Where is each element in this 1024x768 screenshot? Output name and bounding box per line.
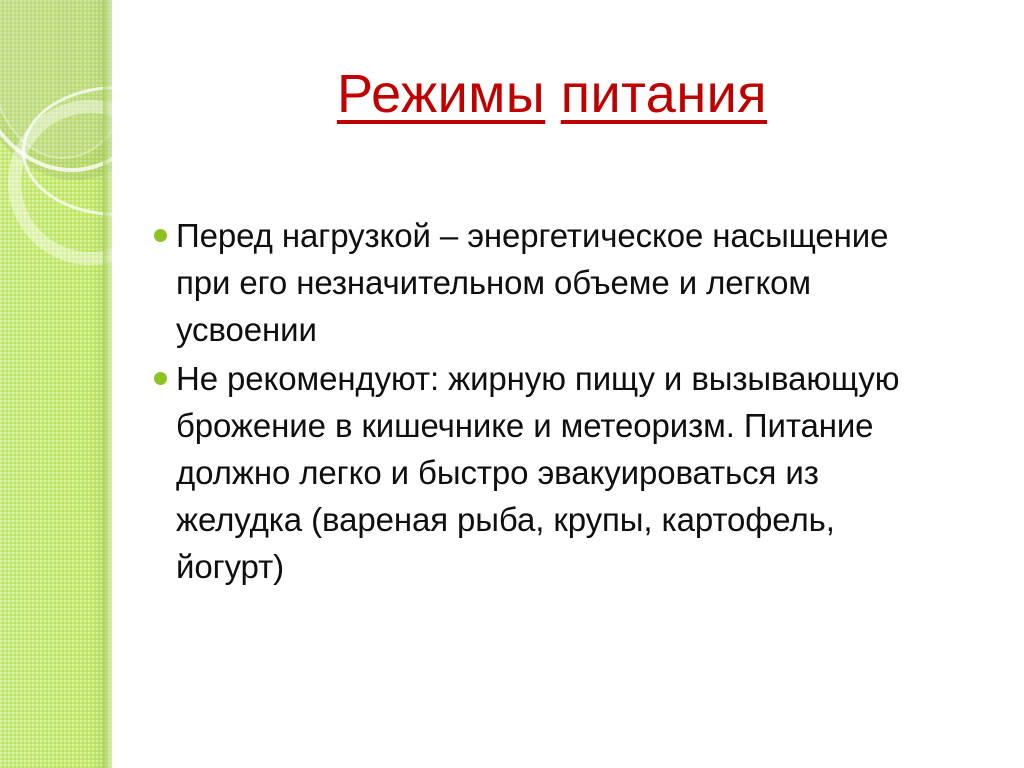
presentation-slide: Режимы питания Перед нагрузкой – энергет… [0, 0, 1024, 768]
title-word-space [545, 64, 561, 124]
list-item: Перед нагрузкой – энергетическое насыщен… [150, 212, 912, 353]
title-word-2: питания [561, 64, 767, 124]
list-item-text: Не рекомендуют: жирную пищу и вызывающую… [176, 355, 912, 590]
slide-body: Перед нагрузкой – энергетическое насыщен… [150, 212, 912, 592]
bullet-list: Перед нагрузкой – энергетическое насыщен… [150, 212, 912, 590]
page-title: Режимы питания [337, 66, 767, 123]
band-edge-stripe [103, 0, 112, 768]
bullet-dot-icon [154, 229, 167, 242]
title-container: Режимы питания [112, 66, 992, 123]
bullet-dot-icon [154, 372, 167, 385]
list-item: Не рекомендуют: жирную пищу и вызывающую… [150, 355, 912, 590]
decorative-side-band [0, 0, 112, 768]
title-word-1: Режимы [337, 64, 545, 124]
list-item-text: Перед нагрузкой – энергетическое насыщен… [176, 212, 912, 353]
